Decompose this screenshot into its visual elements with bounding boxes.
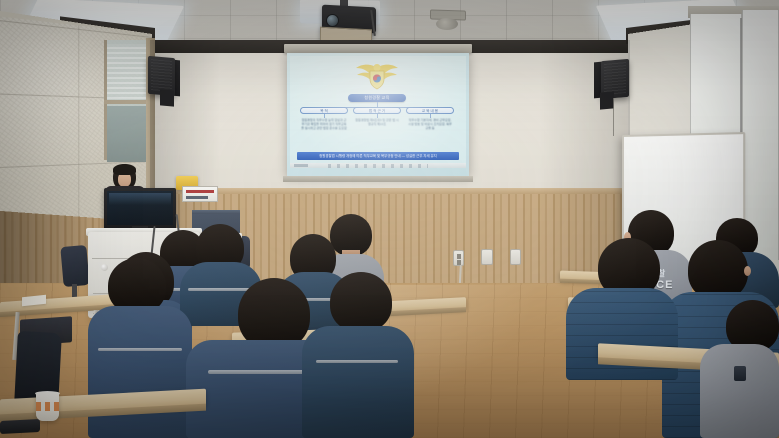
frosted-glass-panel <box>107 44 151 104</box>
audience-body-front-right <box>302 326 414 438</box>
audience-body-front-left <box>88 306 192 438</box>
audience-head-front-right <box>330 272 392 332</box>
audience-ear-right <box>744 266 751 276</box>
presenter-hair <box>113 164 136 175</box>
projection-screen-housing <box>284 44 472 53</box>
speaker-right-bracket <box>600 91 614 109</box>
paper-cup-pattern <box>36 402 59 411</box>
partition-lower-panel <box>107 106 151 162</box>
lectern-knob-left[interactable] <box>101 264 108 271</box>
speaker-left-bracket <box>160 89 174 106</box>
speaker-left-grille <box>151 59 172 92</box>
power-outlet[interactable] <box>453 250 464 266</box>
speaker-right-grille <box>604 62 626 95</box>
speaker-wire <box>613 98 614 136</box>
desk-sign <box>182 186 218 202</box>
podium-monitor-glow <box>109 193 171 205</box>
office-chair-backrest[interactable] <box>60 245 89 287</box>
screen-glare <box>287 53 469 176</box>
mobile-phone[interactable] <box>0 419 40 434</box>
desk-sign-line-1 <box>186 190 214 193</box>
light-switch-2[interactable] <box>510 249 521 265</box>
audience-head-puffer-right <box>688 240 748 300</box>
classroom-photo: 청원경찰 교육 목 적 청원경찰의 직무수행 능력 향상과 근무기강 확립을 위… <box>0 0 779 438</box>
projector-lens <box>326 14 339 27</box>
desk-sign-line-2 <box>186 196 208 199</box>
uniform-badge-bottom-right <box>734 366 746 381</box>
projection-screen-bottom-bar <box>283 176 473 182</box>
audience-body-bottom-right <box>700 344 779 438</box>
ceiling-speaker-dome <box>436 18 458 30</box>
light-switch-1[interactable] <box>481 249 493 265</box>
